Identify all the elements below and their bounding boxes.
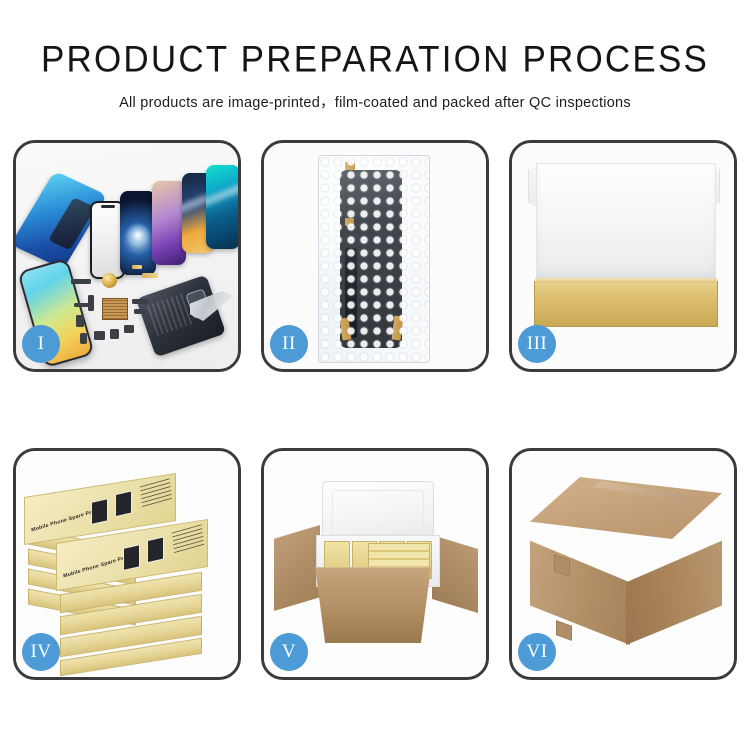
small-part — [88, 295, 94, 311]
carton-front-face — [530, 529, 630, 645]
step-badge-1: I — [22, 325, 60, 363]
gold-flex-part — [132, 265, 142, 269]
page-title: PRODUCT PREPARATION PROCESS — [0, 39, 750, 81]
box-thumbnail — [115, 490, 132, 517]
panel-box-stack: Mobile Phone Spare Parts Mobile Phone Sp… — [13, 448, 241, 680]
step-badge-4: IV — [22, 633, 60, 671]
step-badge-2: II — [270, 325, 308, 363]
small-part — [80, 333, 87, 344]
header: PRODUCT PREPARATION PROCESS All products… — [0, 0, 750, 112]
box-spec-text — [140, 478, 172, 508]
small-part — [76, 315, 84, 327]
panel-inner-box: III — [509, 140, 737, 372]
phone-back-housing — [136, 275, 226, 358]
phone-screen-teal-wallpaper — [206, 165, 238, 249]
small-part — [110, 329, 119, 339]
process-step-grid: I II — [13, 140, 737, 688]
small-part — [132, 299, 148, 304]
bubble-texture — [319, 156, 429, 362]
panel-phone-parts: I — [13, 140, 241, 372]
shipping-carton-body — [310, 567, 436, 643]
page-subtitle: All products are image-printed，film-coat… — [0, 91, 750, 112]
phone-screen-blue-wallpaper — [120, 191, 156, 275]
notch-icon — [101, 205, 115, 208]
box-thumbnail — [91, 498, 108, 525]
small-part — [134, 309, 146, 314]
carton-tape-lower — [556, 620, 572, 641]
gold-flex-part — [142, 273, 158, 278]
panel-bubble-wrap: II — [261, 140, 489, 372]
box-thumbnail — [123, 544, 140, 571]
step-badge-6: VI — [518, 633, 556, 671]
box-label-text: Mobile Phone Spare Parts — [63, 553, 132, 579]
box-thumbnail — [147, 536, 164, 563]
product-preparation-infographic: PRODUCT PREPARATION PROCESS All products… — [0, 0, 750, 750]
box-spec-text — [172, 524, 204, 554]
box-white-lid — [536, 163, 716, 279]
step-badge-3: III — [518, 325, 556, 363]
small-part — [94, 331, 105, 340]
kraft-box-body — [534, 281, 718, 327]
copper-shield-part — [102, 298, 128, 320]
bubble-wrap-bag — [318, 155, 430, 363]
panel-sealed-carton: VI — [509, 448, 737, 680]
carton-flap-left — [274, 525, 320, 611]
box-label-text: Mobile Phone Spare Parts — [31, 507, 100, 533]
step-badge-5: V — [270, 633, 308, 671]
carton-side-face — [626, 529, 722, 645]
small-part — [124, 325, 134, 333]
small-part — [71, 279, 91, 284]
gold-vibrator-part — [102, 273, 117, 288]
phone-screen-purple-wallpaper — [152, 181, 186, 265]
panel-foam-carton: V — [261, 448, 489, 680]
